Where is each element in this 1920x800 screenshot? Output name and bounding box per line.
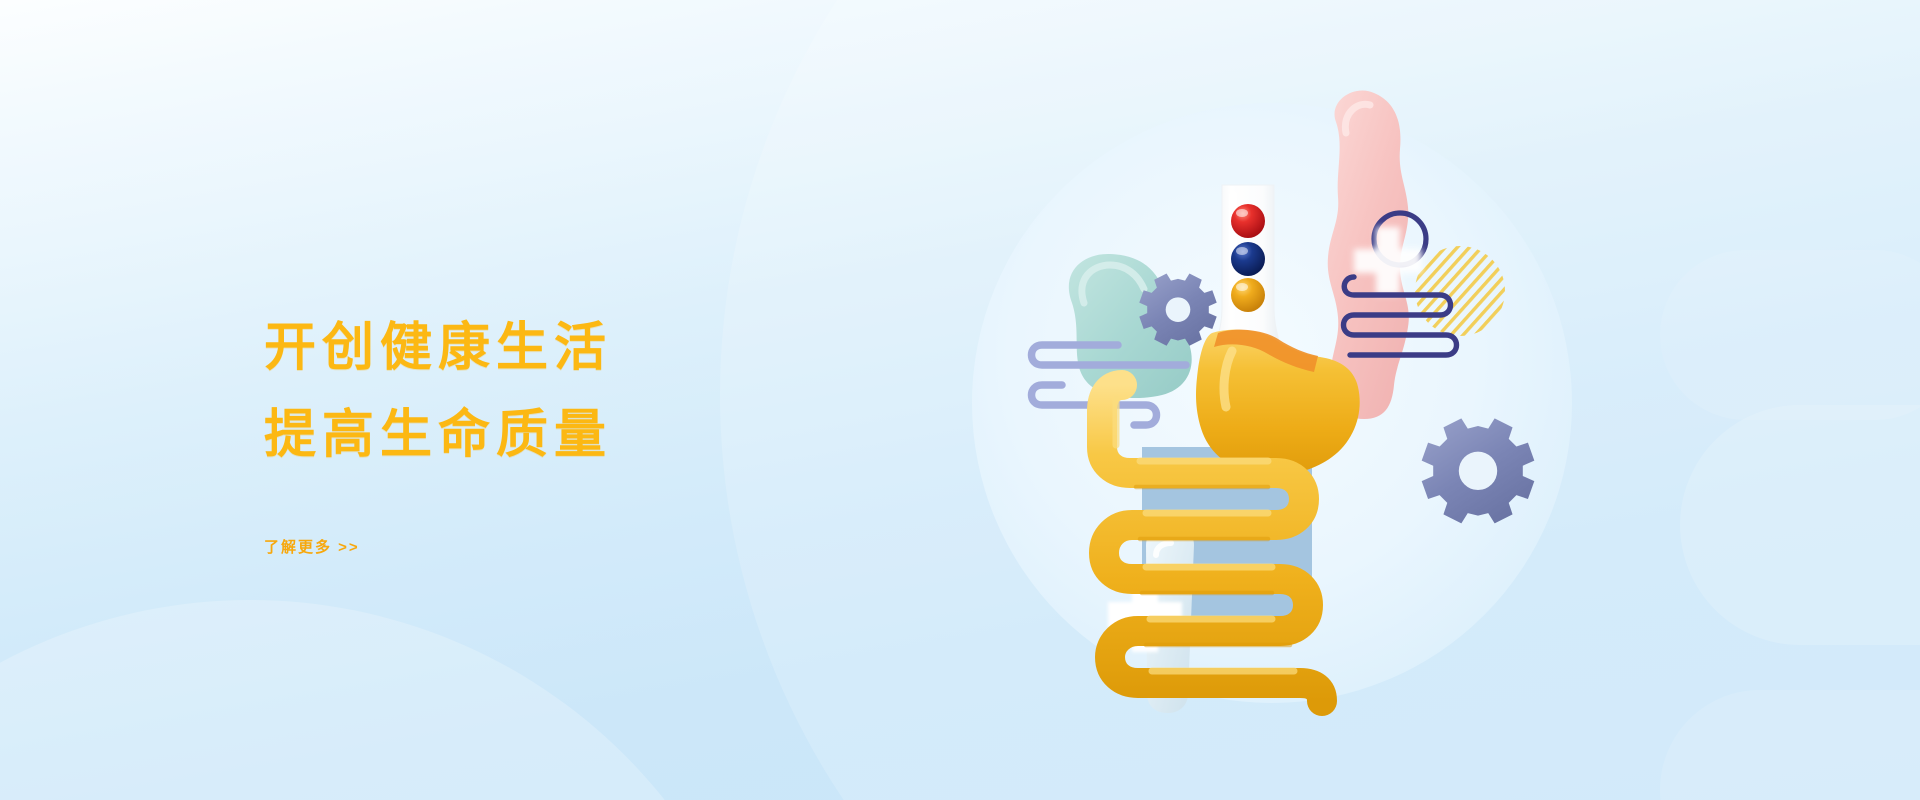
digestive-system-illustration (950, 55, 1610, 745)
hatched-circle (1415, 246, 1505, 336)
background-pill-upper (1660, 250, 1920, 420)
headline-line-1: 开创健康生活 (264, 305, 824, 392)
bead-navy (1231, 242, 1265, 276)
learn-more-link[interactable]: 了解更多 >> (264, 536, 360, 557)
bead-red (1231, 204, 1265, 238)
hero-copy: 开创健康生活 提高生命质量 了解更多 >> (264, 305, 824, 557)
bead-yellow (1231, 278, 1265, 312)
background-pill-lower (1660, 690, 1920, 800)
background-circle-left (0, 600, 780, 800)
hero-banner: 开创健康生活 提高生命质量 了解更多 >> (0, 0, 1920, 800)
background-pill-middle (1680, 405, 1920, 645)
headline-line-2: 提高生命质量 (264, 392, 824, 479)
